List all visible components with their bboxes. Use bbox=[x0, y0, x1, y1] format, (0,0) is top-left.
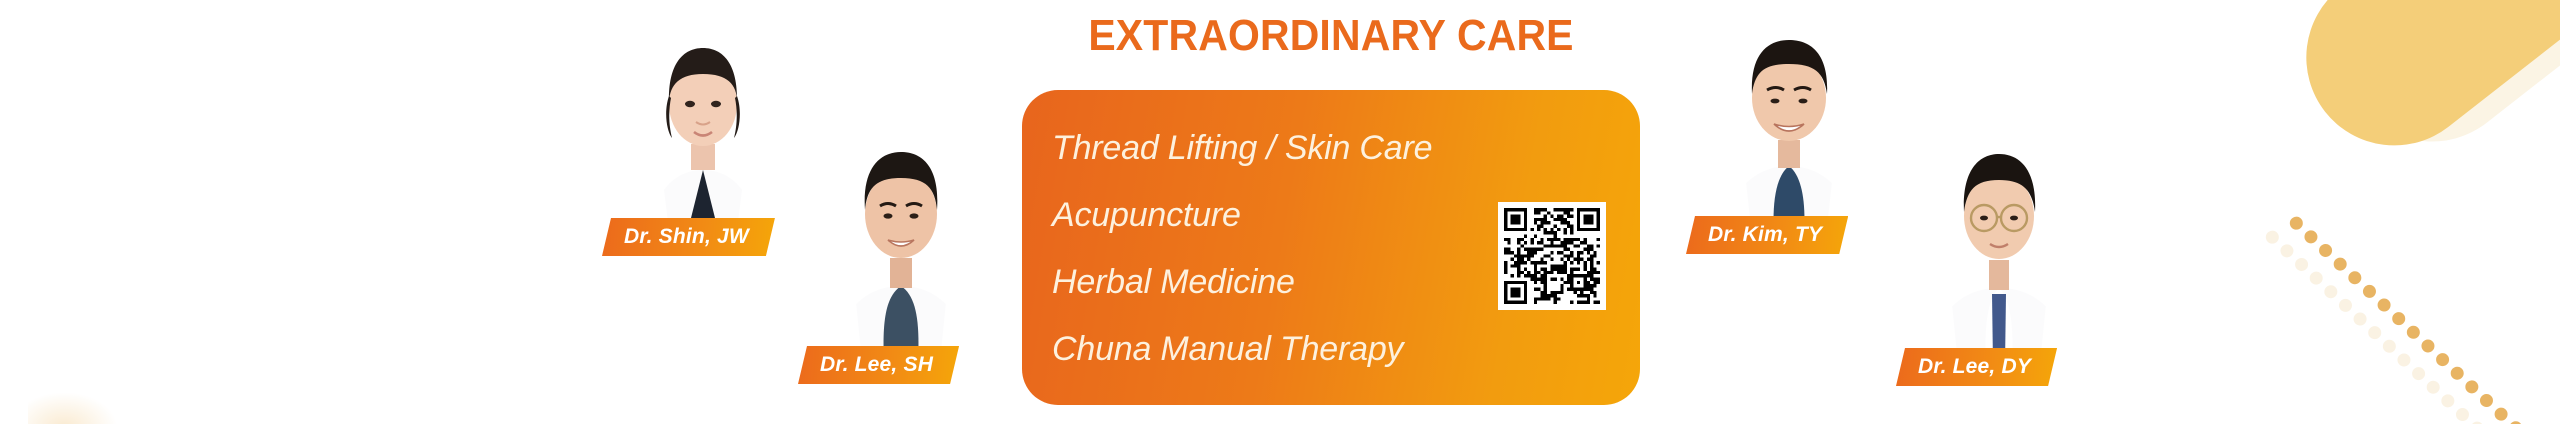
decorative-dot bbox=[2507, 419, 2525, 424]
decorative-dot bbox=[2439, 392, 2457, 410]
doctor-card: Dr. Lee, SH bbox=[812, 110, 990, 362]
doctor-portrait bbox=[812, 110, 990, 362]
service-item: Acupuncture bbox=[1052, 182, 1422, 249]
capsule-shape bbox=[2271, 0, 2560, 181]
decorative-dot bbox=[2292, 255, 2310, 273]
services-card: Thread Lifting / Skin Care Acupuncture H… bbox=[1022, 90, 1640, 405]
decorative-dot bbox=[2316, 241, 2334, 259]
decorative-dot bbox=[2424, 378, 2442, 396]
corner-fade-decoration bbox=[28, 392, 118, 424]
decorative-dot bbox=[2278, 242, 2296, 260]
decorative-dot bbox=[2453, 405, 2471, 423]
decorative-dot bbox=[2360, 282, 2378, 300]
doctor-portrait bbox=[614, 18, 792, 238]
doctor-card: Dr. Kim, TY bbox=[1700, 14, 1878, 236]
capsule-ghost-shape bbox=[2307, 0, 2560, 177]
page-title: EXTRAORDINARY CARE bbox=[1044, 12, 1619, 60]
decorative-dot bbox=[2380, 337, 2398, 355]
doctor-portrait bbox=[1700, 14, 1878, 236]
decorative-dot bbox=[2302, 228, 2320, 246]
doctor-portrait bbox=[1910, 108, 2088, 364]
decorative-dot bbox=[2307, 269, 2325, 287]
service-item: Chuna Manual Therapy bbox=[1052, 316, 1422, 383]
decorative-dot bbox=[2287, 214, 2305, 232]
qr-code-icon[interactable] bbox=[1498, 202, 1606, 310]
doctor-card: Dr. Lee, DY bbox=[1910, 108, 2088, 364]
decorative-dot bbox=[2322, 283, 2340, 301]
decorative-dot bbox=[2404, 323, 2422, 341]
decorative-dot bbox=[2331, 255, 2349, 273]
doctor-name-tag: Dr. Lee, SH bbox=[798, 346, 959, 384]
decorative-dot bbox=[2351, 310, 2369, 328]
decorative-dot bbox=[2448, 364, 2466, 382]
decorative-dot bbox=[2390, 309, 2408, 327]
doctor-name-tag: Dr. Shin, JW bbox=[602, 218, 775, 256]
decorative-dot bbox=[2366, 323, 2384, 341]
decorative-dot bbox=[2346, 269, 2364, 287]
service-item: Thread Lifting / Skin Care bbox=[1052, 115, 1422, 182]
decorative-dot bbox=[2468, 419, 2486, 424]
decorative-dot bbox=[2336, 296, 2354, 314]
doctor-name-tag: Dr. Lee, DY bbox=[1896, 348, 2057, 386]
decorative-dot bbox=[2263, 228, 2281, 246]
decorative-dot bbox=[2409, 364, 2427, 382]
services-list: Thread Lifting / Skin Care Acupuncture H… bbox=[1052, 115, 1422, 383]
decorative-dot bbox=[2463, 378, 2481, 396]
doctor-name-tag: Dr. Kim, TY bbox=[1686, 216, 1848, 254]
service-item: Herbal Medicine bbox=[1052, 249, 1422, 316]
doctor-card: Dr. Shin, JW bbox=[614, 18, 792, 238]
decorative-dot bbox=[2375, 296, 2393, 314]
decorative-dot bbox=[2395, 351, 2413, 369]
extraordinary-care-banner: EXTRAORDINARY CARE Thread Lifting / Skin… bbox=[0, 0, 2560, 424]
decorative-dot bbox=[2492, 405, 2510, 423]
decorative-dot bbox=[2433, 350, 2451, 368]
decorative-dot bbox=[2477, 391, 2495, 409]
decorative-dot bbox=[2419, 337, 2437, 355]
